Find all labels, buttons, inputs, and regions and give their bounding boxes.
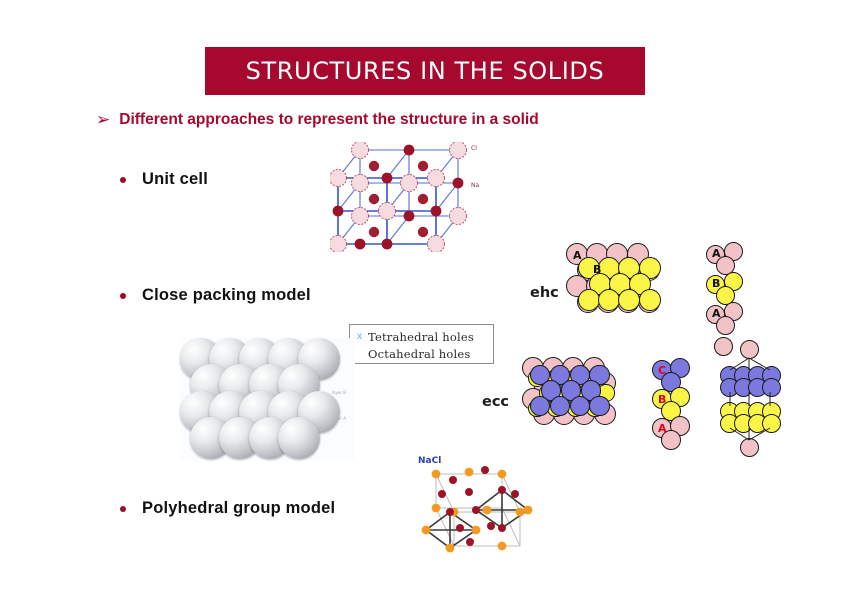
packing-sphere	[589, 396, 609, 416]
nacl-label: NaCl	[418, 456, 441, 466]
packing-sphere	[550, 396, 570, 416]
square-marker-icon	[355, 348, 364, 359]
arrow-bullet-icon: ➢	[96, 110, 110, 129]
layer-label-a: A	[712, 247, 721, 260]
bullet-dot-icon	[120, 506, 126, 512]
layer-label-b: B	[658, 393, 666, 406]
unit-cell-svg	[330, 142, 485, 252]
packing-sphere	[570, 396, 590, 416]
slide-canvas: STRUCTURES IN THE SOLIDS ➢ Different app…	[0, 0, 848, 599]
bullet-label: Close packing model	[142, 286, 311, 305]
bullet-close-packing: Close packing model	[120, 286, 311, 305]
layer-label-b: B	[712, 277, 720, 290]
grey-sphere	[278, 417, 320, 459]
bullet-polyhedral-group: Polyhedral group model	[120, 499, 335, 518]
polyhedral-nacl-figure: NaCl	[410, 450, 550, 560]
bullet-label: Unit cell	[142, 170, 208, 189]
bullet-dot-icon	[120, 293, 126, 299]
grey-array-layer-label-b: layer B	[332, 390, 346, 395]
ccp-abc-stack: CBA	[648, 360, 710, 452]
layer-label-a: A	[712, 307, 721, 320]
bullet-label: Polyhedral group model	[142, 499, 335, 518]
cross-marker-icon: x	[355, 331, 364, 342]
legend-item-octahedral: Octahedral holes	[355, 345, 488, 362]
ccp-flat-array	[522, 357, 614, 447]
packing-sphere	[598, 289, 620, 311]
unit-cell-label-na: Na	[471, 182, 479, 189]
legend-label: Octahedral holes	[368, 347, 471, 361]
title-banner: STRUCTURES IN THE SOLIDS	[205, 47, 645, 95]
layer-label-a: A	[573, 249, 582, 262]
packing-sphere	[578, 289, 600, 311]
layer-label-c: C	[658, 364, 666, 377]
ccp-exploded-stack	[718, 340, 788, 458]
page-title: STRUCTURES IN THE SOLIDS	[246, 57, 605, 85]
label-ecc: ecc	[482, 394, 509, 410]
packing-sphere	[639, 289, 661, 311]
grey-sphere-array: layer B layer A	[180, 338, 355, 460]
bullet-unit-cell: Unit cell	[120, 170, 208, 189]
stack-connector-lines	[718, 340, 788, 458]
heading-text: Different approaches to represent the st…	[119, 110, 538, 129]
layer-label-b: B	[593, 263, 601, 276]
polyhedral-svg	[410, 450, 550, 560]
legend-item-tetrahedral: x Tetrahedral holes	[355, 328, 488, 345]
bullet-dot-icon	[120, 177, 126, 183]
packing-sphere	[618, 289, 640, 311]
label-ehc: ehc	[530, 285, 559, 301]
holes-legend: x Tetrahedral holes Octahedral holes	[349, 324, 494, 364]
unit-cell-label-cl: Cl	[471, 145, 477, 152]
unit-cell-figure: Cl Na	[330, 142, 485, 252]
legend-label: Tetrahedral holes	[368, 330, 474, 344]
hcp-flat-array: AB	[566, 243, 656, 331]
heading-row: ➢ Different approaches to represent the …	[96, 110, 539, 129]
layer-label-a: A	[658, 422, 667, 435]
hcp-exploded-stack: ABA	[700, 245, 770, 340]
